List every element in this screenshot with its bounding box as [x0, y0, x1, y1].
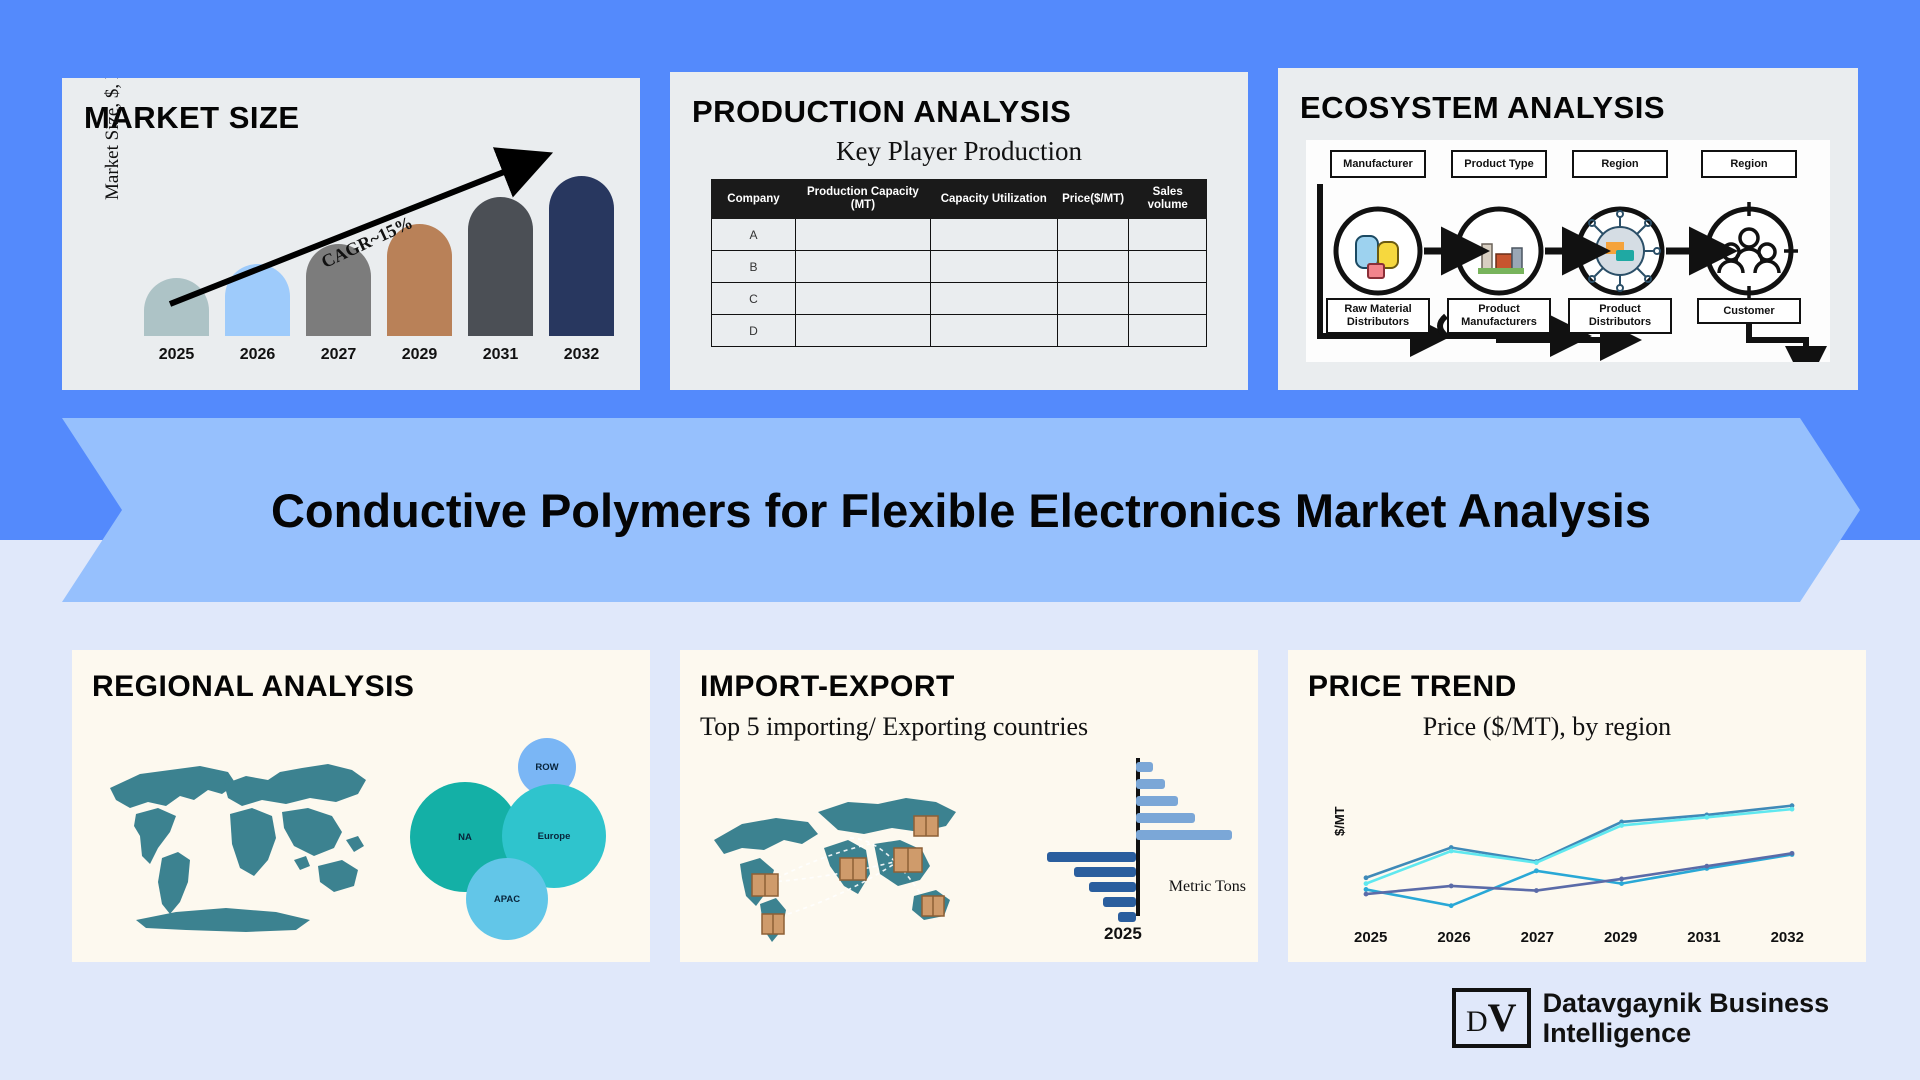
panel-price-trend: PRICE TREND Price ($/MT), by region $/MT…	[1288, 650, 1866, 962]
import-bar	[1136, 813, 1195, 823]
table-cell-capacity[interactable]	[796, 219, 931, 251]
table-column-header: Price($/MT)	[1057, 180, 1129, 219]
price-trend-data-point	[1619, 823, 1624, 828]
price-trend-data-point	[1534, 868, 1539, 873]
market-size-x-label: 2032	[549, 346, 614, 364]
panel-import-export: IMPORT-EXPORT Top 5 importing/ Exporting…	[680, 650, 1258, 962]
price-trend-data-point	[1619, 881, 1624, 886]
ecosystem-node-label-top: Manufacturer	[1330, 150, 1426, 178]
infographic-root: MARKET SIZE Market Size, $, Mn 202520262…	[0, 0, 1920, 1080]
import-bar	[1136, 796, 1178, 806]
table-cell-company[interactable]: C	[712, 283, 796, 315]
table-row[interactable]: C	[712, 283, 1207, 315]
market-size-x-label: 2031	[468, 346, 533, 364]
price-trend-data-point	[1790, 851, 1795, 856]
table-cell-sales[interactable]	[1129, 219, 1207, 251]
ecosystem-node-label-bottom: Raw Material Distributors	[1326, 298, 1430, 334]
price-trend-lines	[1354, 780, 1804, 930]
table-cell-sales[interactable]	[1129, 283, 1207, 315]
market-size-bar	[468, 197, 533, 337]
table-cell-capacity[interactable]	[796, 283, 931, 315]
table-cell-capacity[interactable]	[796, 251, 931, 283]
price-trend-data-point	[1534, 860, 1539, 865]
export-bar	[1118, 912, 1136, 922]
price-trend-x-label: 2029	[1604, 929, 1637, 946]
panel-title-market-size: MARKET SIZE	[84, 100, 640, 136]
price-trend-data-point	[1449, 903, 1454, 908]
price-trend-subtitle: Price ($/MT), by region	[1288, 712, 1866, 742]
price-trend-data-point	[1449, 884, 1454, 889]
price-trend-data-point	[1364, 881, 1369, 886]
market-size-bar	[549, 176, 614, 336]
table-cell-capacity[interactable]	[796, 315, 931, 347]
world-map-icon	[96, 736, 386, 936]
table-column-header: Sales volume	[1129, 180, 1207, 219]
price-trend-data-point	[1704, 815, 1709, 820]
table-cell-utilization[interactable]	[930, 283, 1057, 315]
panel-title-ecosystem-analysis: ECOSYSTEM ANALYSIS	[1300, 90, 1858, 126]
table-cell-price[interactable]	[1057, 251, 1129, 283]
import-export-bar-chart: Metric Tons 2025	[1032, 752, 1242, 942]
brand-logo: D V Datavgaynik Business Intelligence	[1452, 988, 1829, 1048]
import-export-year-label: 2025	[1104, 924, 1142, 944]
table-row[interactable]: A	[712, 219, 1207, 251]
export-bar	[1074, 867, 1136, 877]
export-bar	[1047, 852, 1136, 862]
table-cell-sales[interactable]	[1129, 315, 1207, 347]
price-trend-series-line	[1366, 809, 1792, 883]
table-header-row: CompanyProduction Capacity (MT)Capacity …	[712, 180, 1207, 219]
price-trend-data-point	[1364, 892, 1369, 897]
key-player-production-table: CompanyProduction Capacity (MT)Capacity …	[711, 179, 1207, 347]
market-size-bar	[387, 224, 452, 337]
import-bar	[1136, 830, 1232, 840]
region-bubble-apac[interactable]: APAC	[466, 858, 548, 940]
price-trend-y-axis-label: $/MT	[1332, 806, 1347, 836]
price-trend-chart: $/MT 202520262027202920312032	[1288, 780, 1866, 960]
table-row[interactable]: D	[712, 315, 1207, 347]
ecosystem-node-label-top: Region	[1572, 150, 1668, 178]
logo-letter-v: V	[1488, 994, 1517, 1041]
price-trend-data-point	[1790, 807, 1795, 812]
panel-ecosystem-analysis: ECOSYSTEM ANALYSIS	[1278, 68, 1858, 390]
table-cell-price[interactable]	[1057, 283, 1129, 315]
market-size-bar	[144, 278, 209, 337]
market-size-x-label: 2025	[144, 346, 209, 364]
table-body: ABCD	[712, 219, 1207, 347]
market-size-x-label: 2027	[306, 346, 371, 364]
import-bar	[1136, 779, 1165, 789]
table-cell-utilization[interactable]	[930, 251, 1057, 283]
main-title: Conductive Polymers for Flexible Electro…	[271, 483, 1651, 538]
table-column-header: Capacity Utilization	[930, 180, 1057, 219]
main-title-banner: Conductive Polymers for Flexible Electro…	[62, 418, 1860, 602]
ecosystem-node-label-top: Region	[1701, 150, 1797, 178]
panel-title-production-analysis: PRODUCTION ANALYSIS	[692, 94, 1248, 130]
price-trend-x-label: 2032	[1771, 929, 1804, 946]
table-cell-company[interactable]: B	[712, 251, 796, 283]
market-size-x-axis-labels: 202520262027202920312032	[144, 346, 614, 364]
table-column-header: Production Capacity (MT)	[796, 180, 931, 219]
export-bar	[1089, 882, 1136, 892]
panel-market-size: MARKET SIZE Market Size, $, Mn 202520262…	[62, 78, 640, 390]
price-trend-x-axis-labels: 202520262027202920312032	[1354, 929, 1804, 946]
price-trend-data-point	[1619, 877, 1624, 882]
price-trend-data-point	[1704, 864, 1709, 869]
panel-production-analysis: PRODUCTION ANALYSIS Key Player Productio…	[670, 72, 1248, 390]
ecosystem-node-label-bottom: Product Distributors	[1568, 298, 1672, 334]
import-bar	[1136, 762, 1153, 772]
market-size-x-label: 2029	[387, 346, 452, 364]
production-subtitle: Key Player Production	[670, 136, 1248, 167]
market-size-bar	[225, 264, 290, 336]
panel-title-regional-analysis: REGIONAL ANALYSIS	[92, 670, 650, 704]
panel-title-price-trend: PRICE TREND	[1308, 670, 1866, 704]
table-cell-company[interactable]: D	[712, 315, 796, 347]
price-trend-x-label: 2026	[1437, 929, 1470, 946]
price-trend-data-point	[1534, 888, 1539, 893]
price-trend-data-point	[1364, 887, 1369, 892]
trade-flow-map-icon	[698, 778, 998, 946]
price-trend-x-label: 2027	[1521, 929, 1554, 946]
import-export-subtitle: Top 5 importing/ Exporting countries	[700, 712, 1258, 742]
price-trend-x-label: 2025	[1354, 929, 1387, 946]
logo-mark-icon: D V	[1452, 988, 1531, 1048]
table-cell-sales[interactable]	[1129, 251, 1207, 283]
panel-title-import-export: IMPORT-EXPORT	[700, 670, 1258, 704]
metric-tons-label: Metric Tons	[1169, 878, 1246, 896]
table-column-header: Company	[712, 180, 796, 219]
ecosystem-node-label-top: Product Type	[1451, 150, 1547, 178]
market-size-x-label: 2026	[225, 346, 290, 364]
panel-regional-analysis: REGIONAL ANALYSIS ROWNAEuropeAPAC	[72, 650, 650, 962]
logo-line-1: Datavgaynik Business	[1543, 988, 1830, 1018]
table-cell-price[interactable]	[1057, 315, 1129, 347]
table-cell-price[interactable]	[1057, 219, 1129, 251]
logo-letter-d: D	[1466, 1005, 1488, 1039]
logo-line-2: Intelligence	[1543, 1018, 1830, 1048]
table-row[interactable]: B	[712, 251, 1207, 283]
ecosystem-node-label-bottom: Customer	[1697, 298, 1801, 324]
price-trend-data-point	[1364, 875, 1369, 880]
table-cell-utilization[interactable]	[930, 219, 1057, 251]
export-bar	[1103, 897, 1136, 907]
region-bubble-chart: ROWNAEuropeAPAC	[410, 738, 610, 928]
market-size-y-axis-label: Market Size, $, Mn	[102, 78, 124, 200]
price-trend-data-point	[1449, 849, 1454, 854]
ecosystem-node-label-bottom: Product Manufacturers	[1447, 298, 1551, 334]
table-cell-utilization[interactable]	[930, 315, 1057, 347]
price-trend-x-label: 2031	[1687, 929, 1720, 946]
table-cell-company[interactable]: A	[712, 219, 796, 251]
ecosystem-diagram: ManufacturerProduct TypeRegionRegion Raw…	[1306, 140, 1830, 362]
logo-wordmark: Datavgaynik Business Intelligence	[1543, 988, 1830, 1048]
market-size-chart: Market Size, $, Mn 202520262027202920312…	[62, 136, 640, 372]
